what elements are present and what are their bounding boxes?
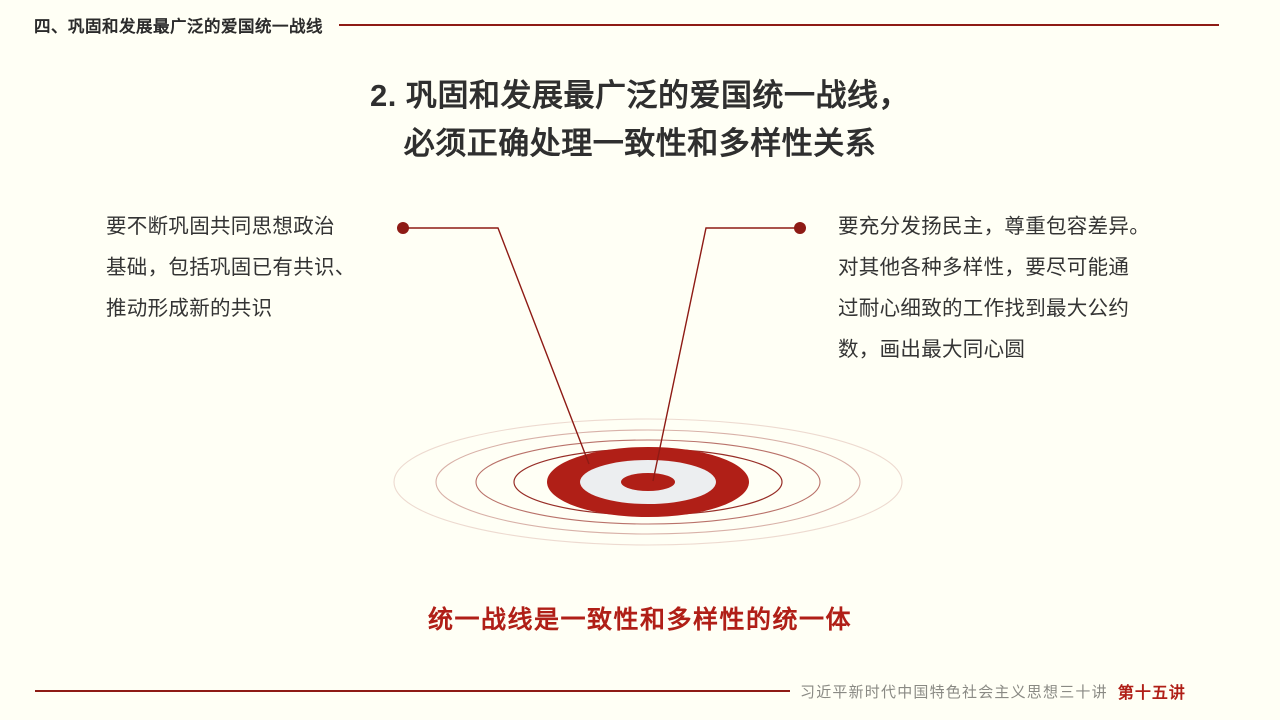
right-point-line-1: 要充分发扬民主，尊重包容差异。	[838, 206, 1180, 247]
right-connector-dot	[794, 222, 806, 234]
ripple-ring-4	[394, 419, 902, 545]
footer-lecture-number: 第十五讲	[1118, 679, 1186, 703]
header-divider-line	[339, 24, 1219, 26]
target-outer-ring	[547, 447, 749, 517]
page-title-line-2: 必须正确处理一致性和多样性关系	[0, 120, 1280, 168]
section-label: 四、巩固和发展最广泛的爱国统一战线	[34, 13, 323, 37]
left-point-text: 要不断巩固共同思想政治 基础，包括巩固已有共识、 推动形成新的共识	[106, 206, 392, 329]
right-connector	[653, 228, 800, 481]
page-title-line-1: 2. 巩固和发展最广泛的爱国统一战线，	[0, 72, 1280, 120]
ripple-rings	[394, 419, 902, 545]
right-point-line-4: 数，画出最大同心圆	[838, 329, 1180, 370]
left-point-line-1: 要不断巩固共同思想政治	[106, 206, 392, 247]
left-connector	[403, 228, 589, 464]
right-point-text: 要充分发扬民主，尊重包容差异。 对其他各种多样性，要尽可能通 过耐心细致的工作找…	[838, 206, 1180, 370]
target-inner-disc	[580, 460, 716, 504]
slide-canvas: 四、巩固和发展最广泛的爱国统一战线 2. 巩固和发展最广泛的爱国统一战线， 必须…	[0, 0, 1280, 720]
conclusion-caption: 统一战线是一致性和多样性的统一体	[0, 600, 1280, 636]
right-point-line-2: 对其他各种多样性，要尽可能通	[838, 247, 1180, 288]
target-center-dot	[621, 473, 675, 491]
left-connector-dot	[397, 222, 409, 234]
left-point-line-2: 基础，包括巩固已有共识、	[106, 247, 392, 288]
slide-footer: 习近平新时代中国特色社会主义思想三十讲 第十五讲	[0, 676, 1280, 706]
left-point-line-3: 推动形成新的共识	[106, 288, 392, 329]
ripple-ring-1	[514, 449, 782, 515]
ripple-ring-2	[476, 440, 820, 524]
target-bullseye	[547, 447, 749, 517]
right-point-line-3: 过耐心细致的工作找到最大公约	[838, 288, 1180, 329]
footer-series-title: 习近平新时代中国特色社会主义思想三十讲	[800, 681, 1108, 702]
ripple-ring-3	[436, 430, 860, 534]
slide-header: 四、巩固和发展最广泛的爱国统一战线	[0, 8, 1280, 42]
page-title: 2. 巩固和发展最广泛的爱国统一战线， 必须正确处理一致性和多样性关系	[0, 72, 1280, 168]
footer-divider-line	[35, 690, 790, 692]
left-connector-path	[403, 228, 589, 464]
right-connector-path	[653, 228, 800, 481]
